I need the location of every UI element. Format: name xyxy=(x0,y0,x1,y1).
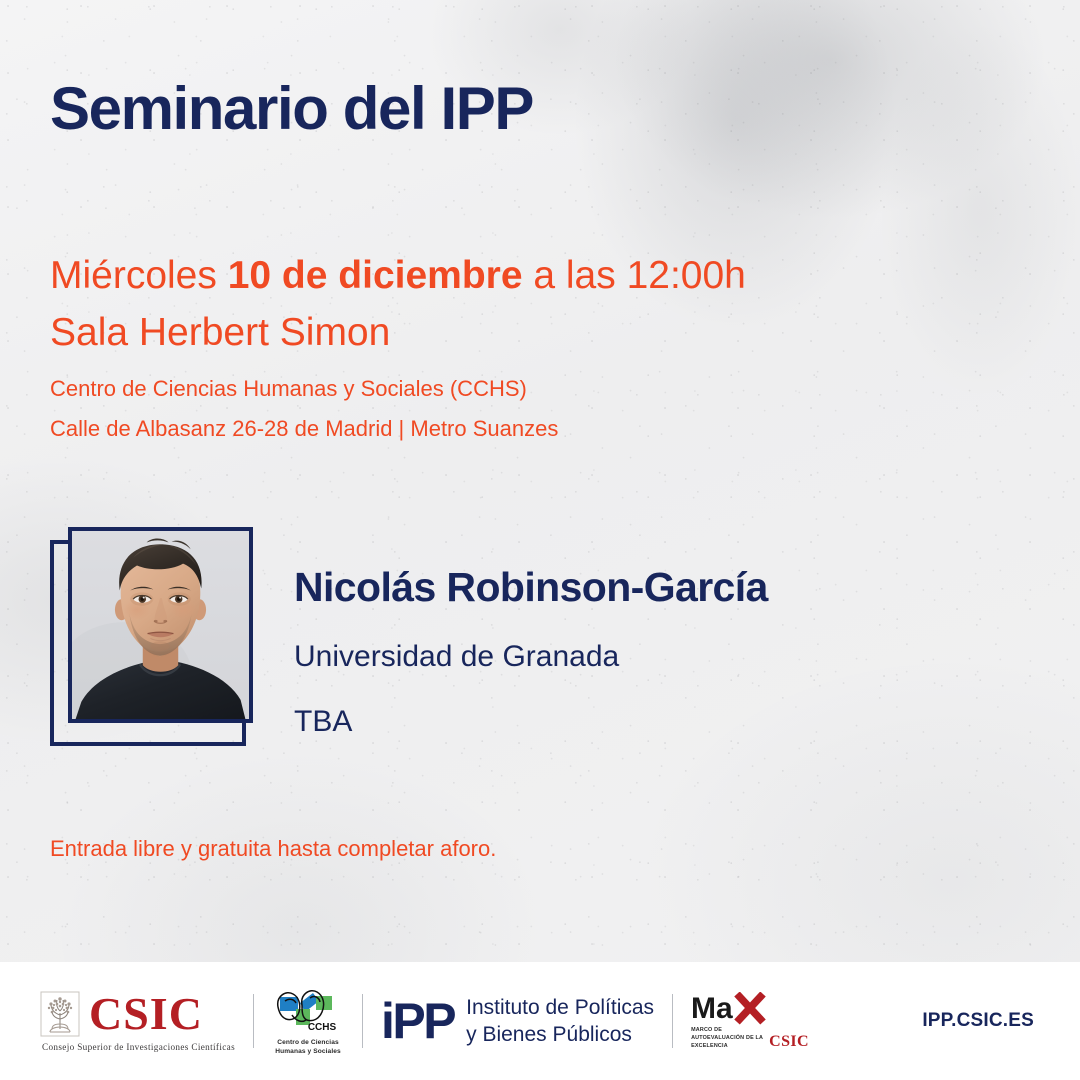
max-csic-wordmark: CSIC xyxy=(769,1034,809,1050)
csic-logo-row: CSIC xyxy=(40,991,203,1037)
cchs-logo[interactable]: CCHS Centro de Ciencias Humanas y Social… xyxy=(272,985,344,1057)
speaker-talk-title: TBA xyxy=(294,707,352,737)
max-wordmark-icon: Ma xyxy=(691,992,775,1026)
max-subtitle: MARCO DE AUTOEVALUACIÓN DE LA EXCELENCIA xyxy=(691,1026,763,1050)
ipp-wordmark-pp: PP xyxy=(392,993,454,1049)
event-datetime: Miércoles 10 de diciembre a las 12:00h xyxy=(50,256,746,295)
ipp-wordmark: iPP xyxy=(381,996,454,1046)
svg-text:CCHS: CCHS xyxy=(308,1022,337,1033)
footer-divider-3 xyxy=(672,994,673,1048)
ipp-name-line-2: y Bienes Públicos xyxy=(466,1021,654,1048)
cchs-subtitle-line-2: Humanas y Sociales xyxy=(275,1048,341,1057)
cchs-subtitle-line-1: Centro de Ciencias xyxy=(275,1039,341,1048)
cchs-faces-emblem-icon: CCHS xyxy=(272,985,344,1037)
event-date-prefix: Miércoles xyxy=(50,254,228,297)
footer-logo-group: CSIC Consejo Superior de Investigaciones… xyxy=(40,962,809,1080)
event-date-bold: 10 de diciembre xyxy=(228,254,523,297)
footer-divider-2 xyxy=(362,994,363,1048)
ipp-name-line-1: Instituto de Políticas xyxy=(466,994,654,1021)
speaker-affiliation: Universidad de Granada xyxy=(294,642,619,672)
free-entry-notice: Entrada libre y gratuita hasta completar… xyxy=(50,838,496,860)
event-room: Sala Herbert Simon xyxy=(50,313,390,352)
max-subtitle-line-2: AUTOEVALUACIÓN DE LA xyxy=(691,1034,763,1042)
event-address-line-2: Calle de Albasanz 26-28 de Madrid | Metr… xyxy=(50,418,558,440)
footer-bar: CSIC Consejo Superior de Investigaciones… xyxy=(0,962,1080,1080)
speaker-name: Nicolás Robinson-García xyxy=(294,567,768,608)
csic-wordmark: CSIC xyxy=(89,991,203,1037)
event-date-suffix: a las 12:00h xyxy=(523,254,746,297)
cchs-subtitle: Centro de Ciencias Humanas y Sociales xyxy=(275,1039,341,1057)
csic-logo[interactable]: CSIC Consejo Superior de Investigaciones… xyxy=(40,991,235,1052)
speaker-photo-frame xyxy=(68,527,253,723)
paper-grain-overlay xyxy=(0,0,1080,962)
ipp-wordmark-i: i xyxy=(381,993,392,1049)
event-address-line-1: Centro de Ciencias Humanas y Sociales (C… xyxy=(50,378,527,400)
max-subtitle-line-3: EXCELENCIA xyxy=(691,1042,763,1050)
ipp-full-name: Instituto de Políticas y Bienes Públicos xyxy=(466,994,654,1049)
csic-tree-emblem-icon xyxy=(40,991,80,1037)
ipp-logo[interactable]: iPP Instituto de Políticas y Bienes Públ… xyxy=(381,994,654,1049)
footer-divider-1 xyxy=(253,994,254,1048)
poster-canvas: Seminario del IPP Miércoles 10 de diciem… xyxy=(0,0,1080,1080)
speaker-portrait-photo xyxy=(72,531,249,719)
max-subtitle-row: MARCO DE AUTOEVALUACIÓN DE LA EXCELENCIA… xyxy=(691,1026,809,1050)
max-wordmark-ma: Ma xyxy=(691,992,733,1025)
csic-tagline: Consejo Superior de Investigaciones Cien… xyxy=(42,1042,235,1052)
max-subtitle-line-1: MARCO DE xyxy=(691,1026,763,1034)
max-logo[interactable]: Ma MARCO DE AUTOEVALUACIÓN DE LA EXCELEN… xyxy=(691,992,809,1050)
page-title: Seminario del IPP xyxy=(50,79,533,139)
footer-website-url[interactable]: IPP.CSIC.ES xyxy=(922,962,1034,1080)
